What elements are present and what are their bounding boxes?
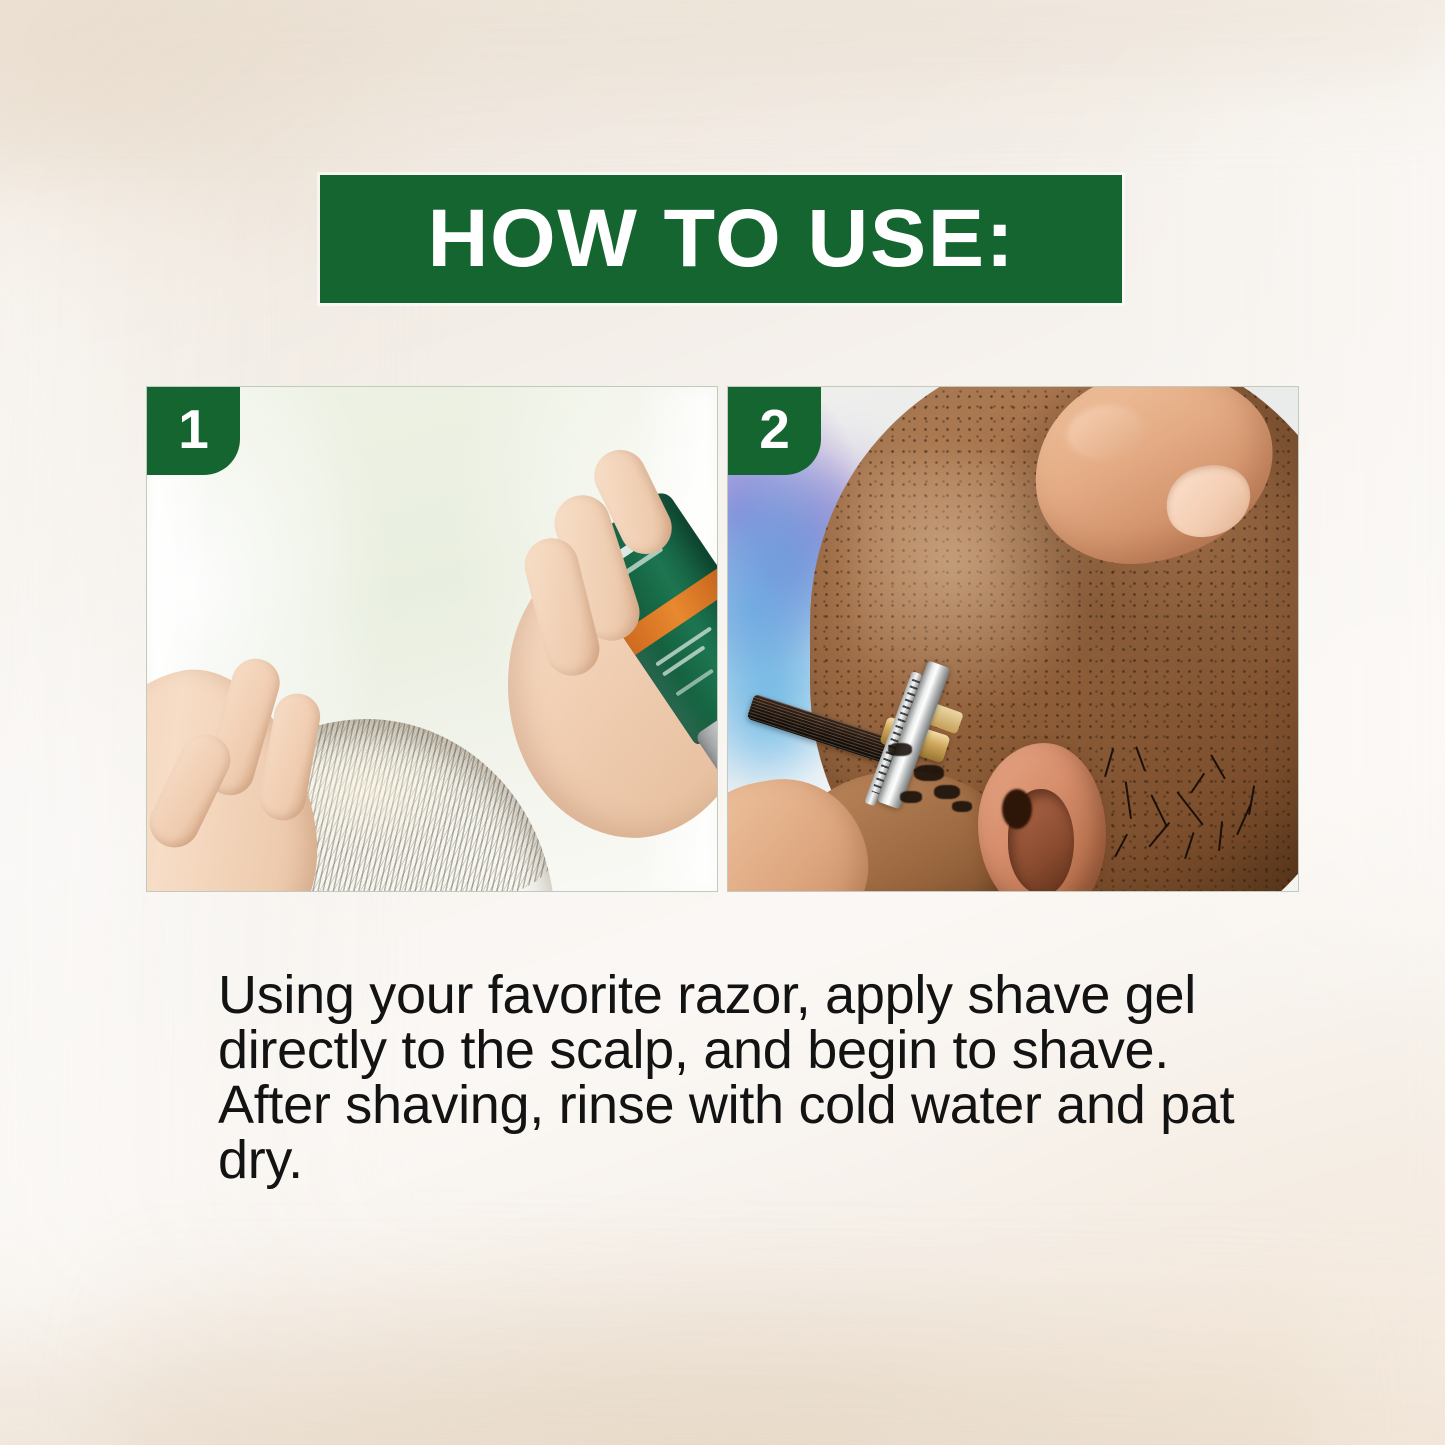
stray-hair: [1184, 832, 1195, 859]
step-badge-2: 2: [728, 387, 821, 475]
stray-hair: [1190, 773, 1205, 794]
background-streak-top: [0, 0, 1445, 120]
tube-label-line: [675, 669, 714, 697]
step-panel-2: 2: [727, 386, 1299, 892]
how-to-use-banner: HOW TO USE:: [320, 175, 1122, 303]
shaved-hair-clump: [914, 765, 944, 781]
stray-hair: [1218, 821, 1223, 851]
stray-hair: [1125, 781, 1132, 819]
stray-hair: [1104, 748, 1114, 777]
stray-hair: [1135, 746, 1146, 771]
stray-hair: [1248, 785, 1255, 815]
stray-hair: [1150, 794, 1168, 827]
page-title: HOW TO USE:: [427, 198, 1015, 280]
background-streak-bottom: [120, 1250, 1320, 1445]
thumb-knuckle: [1063, 400, 1148, 464]
step-panel-1: 1: [146, 386, 718, 892]
step-panels: 1: [146, 386, 1300, 892]
step-badge-1: 1: [147, 387, 240, 475]
step-number-1: 1: [178, 402, 209, 457]
infographic-page: HOW TO USE:: [0, 0, 1445, 1445]
shaved-hair-clump: [888, 743, 912, 756]
tube-label-line: [662, 645, 706, 676]
shaved-hair-clump: [900, 791, 922, 803]
instructions-paragraph: Using your favorite razor, apply shave g…: [218, 968, 1278, 1188]
shaved-hair-clump: [952, 801, 972, 812]
shaved-hair-clump: [934, 785, 960, 799]
step-number-2: 2: [759, 402, 790, 457]
stray-hair: [1114, 834, 1128, 858]
stray-hair: [1176, 791, 1203, 825]
stray-hair: [1210, 754, 1226, 779]
